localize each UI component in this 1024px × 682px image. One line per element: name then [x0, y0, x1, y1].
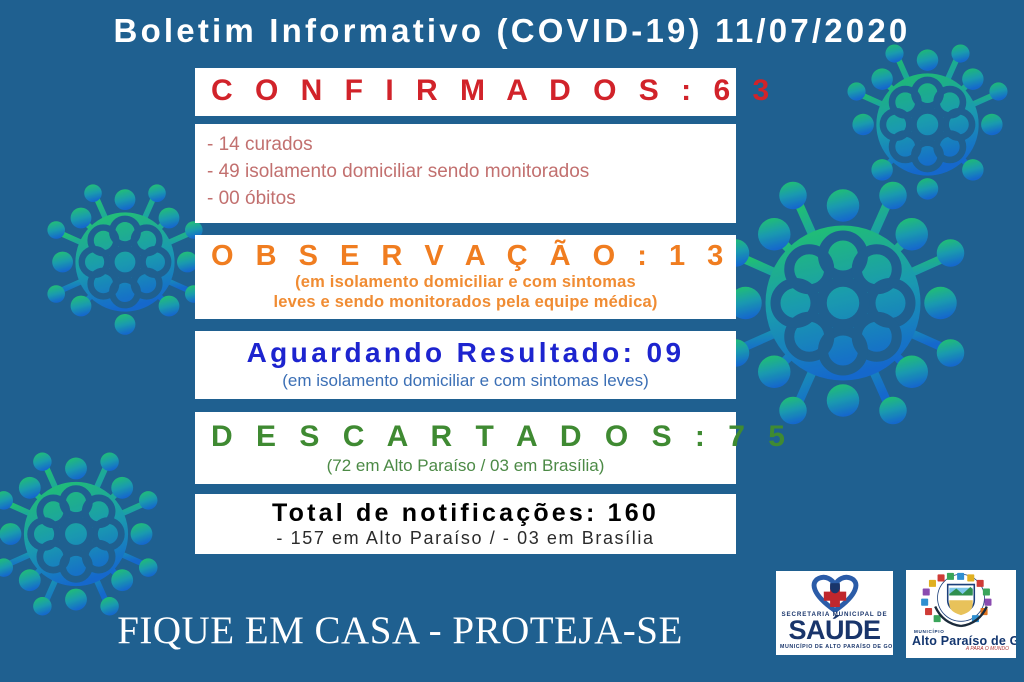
total-notifications-subtext: - 157 em Alto Paraíso / - 03 em Brasília — [205, 528, 726, 549]
observation-subtext-line-2: leves e sendo monitorados pela equipe mé… — [205, 292, 726, 312]
awaiting-results-card: Aguardando Resultado: 09 (em isolamento … — [195, 331, 736, 398]
confirmed-detail-isolation: - 49 isolamento domiciliar sendo monitor… — [207, 159, 724, 186]
observation-headline: O B S E R V A Ç Ã O : 1 3 — [205, 240, 726, 272]
observation-subtext-line-1: (em isolamento domiciliar e com sintomas — [205, 272, 726, 292]
confirmed-detail-cured: - 14 curados — [207, 132, 724, 159]
health-logo-bottom-line: MUNICÍPIO DE ALTO PARAÍSO DE GOIÁS — [780, 645, 889, 650]
coat-of-arms-icon — [909, 572, 1013, 630]
total-notifications-card: Total de notificações: 160 - 157 em Alto… — [195, 494, 736, 553]
slogan-text: FIQUE EM CASA - PROTEJA-SE — [90, 608, 710, 653]
confirmed-cases-details-card: - 14 curados - 49 isolamento domiciliar … — [195, 124, 736, 223]
virus-graphic-right-large — [718, 178, 968, 428]
discarded-cases-card: D E S C A R T A D O S : 7 5 (72 em Alto … — [195, 412, 736, 485]
observation-card: O B S E R V A Ç Ã O : 1 3 (em isolamento… — [195, 235, 736, 320]
confirmed-cases-card: C O N F I R M A D O S : 6 3 — [195, 68, 736, 116]
health-department-logo: SECRETARIA MUNICIPAL DE SAÚDE MUNICÍPIO … — [776, 571, 893, 655]
virus-graphic-left — [45, 182, 205, 342]
total-notifications-headline: Total de notificações: 160 — [205, 499, 726, 527]
covid-bulletin-poster: Boletim Informativo (COVID-19) 11/07/202… — [0, 0, 1024, 682]
awaiting-results-headline: Aguardando Resultado: 09 — [205, 337, 726, 368]
confirmed-detail-deaths: - 00 óbitos — [207, 186, 724, 213]
statistics-card-stack: C O N F I R M A D O S : 6 3 - 14 curados… — [195, 68, 736, 554]
discarded-cases-headline: D E S C A R T A D O S : 7 5 — [205, 420, 726, 454]
virus-graphic-bottom-left — [0, 450, 160, 618]
health-logo-word: SAÚDE — [780, 618, 889, 643]
awaiting-results-subtext: (em isolamento domiciliar e com sintomas… — [205, 371, 726, 391]
discarded-cases-subtext: (72 em Alto Paraíso / 03 em Brasília) — [205, 456, 726, 476]
confirmed-cases-headline: C O N F I R M A D O S : 6 3 — [205, 74, 726, 108]
municipality-logo-tagline: A PARA O MUNDO — [909, 647, 1013, 652]
municipality-logo: MUNICÍPIO Alto Paraíso de Goiás A PARA O… — [906, 570, 1016, 658]
page-title: Boletim Informativo (COVID-19) 11/07/202… — [0, 14, 1024, 47]
heart-cross-icon — [780, 574, 889, 612]
virus-graphic-top-right — [845, 42, 1010, 207]
